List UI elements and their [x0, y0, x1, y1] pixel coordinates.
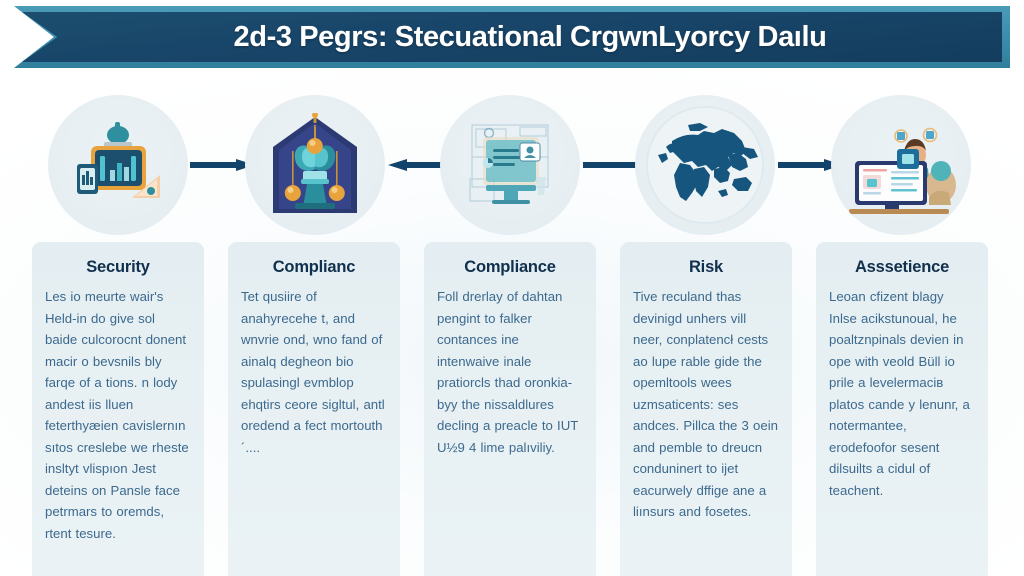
page-title: 2d-3 Pegrs: Stecuational CrgwnLyorcy Daı…: [234, 21, 827, 54]
world-map-globe-icon: [642, 105, 768, 225]
card-title: Asssetience: [829, 258, 975, 277]
card-body: Leoan cfizent blagy Inlse acikstunoual, …: [829, 286, 975, 501]
flow-node-4-circle: [635, 95, 775, 235]
card-asssetience[interactable]: Asssetience Leoan cfizent blagy Inlse ac…: [816, 242, 988, 576]
monitor-chart-tablet-ruler-icon: [66, 113, 170, 217]
card-title: Compliance: [437, 258, 583, 277]
card-complianc[interactable]: Complianc Tet qusiire of anahyrecehe t, …: [228, 242, 400, 576]
flow-node-1-circle: [48, 95, 188, 235]
card-compliance[interactable]: Compliance Foll drerlay of dahtan pengin…: [424, 242, 596, 576]
card-body: Tive reculand thas devinigd unhers vill …: [633, 286, 779, 523]
temple-lanterns-icon: [265, 113, 365, 217]
faded-monitor-document-icon: [458, 113, 562, 217]
card-title: Risk: [633, 258, 779, 277]
card-title: Security: [45, 258, 191, 277]
cards-row: Security Les io meurte wair's Held-in do…: [0, 242, 1024, 576]
flow-node-1[interactable]: [38, 95, 198, 235]
header-banner: 2d-3 Pegrs: Stecuational CrgwnLyorcy Daı…: [0, 6, 1024, 74]
ribbon-fill: 2d-3 Pegrs: Stecuational CrgwnLyorcy Daı…: [22, 12, 1002, 62]
card-title: Complianc: [241, 258, 387, 277]
card-risk[interactable]: Risk Tive reculand thas devinigd unhers …: [620, 242, 792, 576]
flow-node-2-circle: [245, 95, 385, 235]
card-body: Les io meurte wair's Held-in do give sol…: [45, 286, 191, 544]
flow-node-4[interactable]: [625, 95, 785, 235]
flow-diagram-row: [0, 95, 1024, 235]
card-body: Foll drerlay of dahtan pengint to falker…: [437, 286, 583, 458]
flow-node-3[interactable]: [430, 95, 590, 235]
flow-node-5[interactable]: [821, 95, 981, 235]
flow-node-2[interactable]: [235, 95, 395, 235]
person-dashboard-monitor-icon: [845, 113, 957, 217]
flow-node-5-circle: [831, 95, 971, 235]
flow-node-3-circle: [440, 95, 580, 235]
card-security[interactable]: Security Les io meurte wair's Held-in do…: [32, 242, 204, 576]
card-body: Tet qusiire of anahyrecehe t, and wnvrie…: [241, 286, 387, 458]
